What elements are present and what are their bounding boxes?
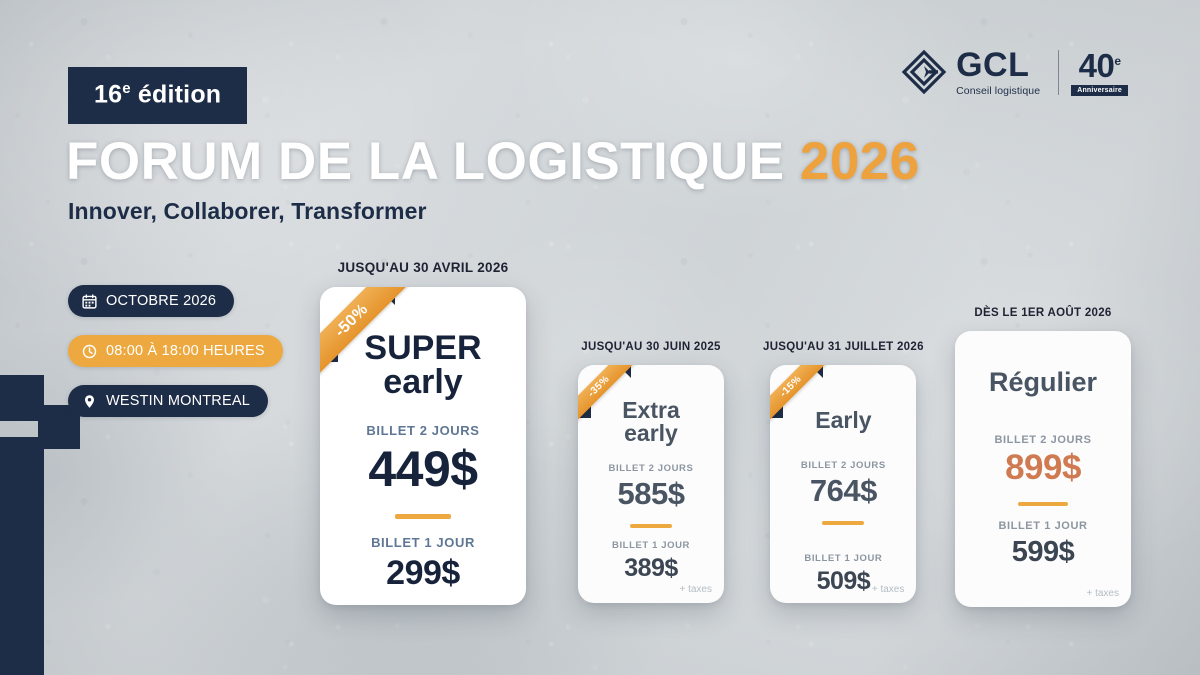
pricing-card-title-super-early: SUPER early	[364, 331, 481, 399]
logo-divider	[1058, 50, 1059, 95]
pricing-title-line1: SUPER	[364, 331, 481, 365]
price-divider	[630, 524, 672, 528]
pricing-column-early: JUSQU'AU 31 JUILLET 2026 -15% Early BILL…	[763, 341, 924, 603]
pricing-column-super-early: JUSQU'AU 30 AVRIL 2026 -50% SUPER early …	[320, 260, 526, 605]
ribbon-tip-left	[770, 405, 783, 418]
info-pill-venue-label: WESTIN MONTREAL	[106, 393, 250, 409]
ribbon-tip-left	[578, 405, 591, 418]
info-pill-venue: WESTIN MONTREAL	[68, 385, 268, 417]
decor-block-bottom	[0, 437, 44, 675]
pricing-title-line2: early	[364, 365, 481, 399]
pricing-title-line1: Early	[815, 409, 871, 432]
info-pill-hours: 08:00 À 18:00 HEURES	[68, 335, 283, 367]
pricing-card-early[interactable]: -15% Early BILLET 2 JOURS 764$ BILLET 1 …	[770, 365, 916, 603]
title-main-text: FORUM DE LA LOGISTIQUE	[66, 132, 800, 191]
ribbon-tip-left	[320, 344, 338, 362]
calendar-icon	[82, 294, 97, 309]
ticket-label-two-days: BILLET 2 JOURS	[609, 463, 694, 474]
info-pill-date-label: OCTOBRE 2026	[106, 293, 216, 309]
edition-ordinal-suffix: e	[122, 80, 131, 97]
price-two-days-super-early: 449$	[368, 440, 477, 498]
ribbon-tip-top	[618, 365, 631, 378]
anniversary-number-value: 40	[1079, 47, 1115, 84]
title-year: 2026	[800, 132, 920, 191]
gcl-logo-mark-icon	[901, 49, 947, 95]
price-two-days-extra-early: 585$	[618, 476, 685, 512]
pricing-card-title-extra-early: Extra early	[622, 399, 680, 445]
event-info-pills: OCTOBRE 2026 08:00 À 18:00 HEURES WESTIN…	[68, 285, 283, 417]
pricing-card-super-early[interactable]: -50% SUPER early BILLET 2 JOURS 449$ BIL…	[320, 287, 526, 605]
pricing-title-line1: Extra	[622, 399, 680, 422]
edition-badge: 16e édition	[68, 67, 247, 124]
pricing-title-line1: Régulier	[989, 369, 1097, 396]
taxes-note: + taxes	[679, 584, 712, 595]
pricing-card-title-early: Early	[815, 409, 871, 432]
pricing-deadline-super-early: JUSQU'AU 30 AVRIL 2026	[338, 260, 509, 275]
anniversary-label: Anniversaire	[1071, 85, 1128, 96]
price-divider	[395, 514, 451, 519]
anniversary-number: 40e	[1079, 49, 1121, 82]
ribbon-tip-top	[377, 287, 395, 305]
price-one-day-extra-early: 389$	[624, 554, 678, 583]
gcl-logo-text: GCL Conseil logistique	[956, 48, 1040, 97]
ticket-label-two-days: BILLET 2 JOURS	[801, 460, 886, 471]
price-divider	[1018, 502, 1068, 506]
price-one-day-early: 509$	[817, 567, 871, 596]
info-pill-hours-label: 08:00 À 18:00 HEURES	[106, 343, 265, 359]
gcl-logo-tagline: Conseil logistique	[956, 86, 1040, 97]
ticket-label-two-days: BILLET 2 JOURS	[366, 423, 479, 438]
ticket-label-one-day: BILLET 1 JOUR	[371, 535, 475, 550]
taxes-note: + taxes	[1086, 588, 1119, 599]
gcl-logo: GCL Conseil logistique 40e Anniversaire	[901, 48, 1128, 97]
pricing-deadline-early: JUSQU'AU 31 JUILLET 2026	[763, 341, 924, 353]
price-two-days-regulier: 899$	[1005, 448, 1081, 488]
pricing-title-line2: early	[622, 422, 680, 445]
edition-number: 16	[94, 80, 122, 108]
pricing-card-title-regulier: Régulier	[989, 369, 1097, 396]
pricing-deadline-extra-early: JUSQU'AU 30 JUIN 2025	[581, 341, 720, 353]
ribbon-tip-top	[810, 365, 823, 378]
page-subtitle: Innover, Collaborer, Transformer	[68, 198, 427, 225]
ticket-label-one-day: BILLET 1 JOUR	[612, 540, 690, 551]
price-one-day-regulier: 599$	[1012, 536, 1075, 569]
ticket-label-one-day: BILLET 1 JOUR	[998, 520, 1087, 532]
clock-icon	[82, 344, 97, 359]
price-one-day-super-early: 299$	[386, 554, 460, 593]
info-pill-date: OCTOBRE 2026	[68, 285, 234, 317]
page-title: FORUM DE LA LOGISTIQUE 2026	[66, 131, 920, 192]
pricing-card-extra-early[interactable]: -35% Extra early BILLET 2 JOURS 585$ BIL…	[578, 365, 724, 603]
taxes-note: + taxes	[872, 584, 905, 595]
price-two-days-early: 764$	[810, 473, 877, 509]
pricing-card-regulier[interactable]: Régulier BILLET 2 JOURS 899$ BILLET 1 JO…	[955, 331, 1131, 607]
ticket-label-one-day: BILLET 1 JOUR	[804, 553, 882, 564]
price-divider	[822, 521, 864, 525]
edition-word: édition	[138, 80, 221, 108]
anniversary-number-sup: e	[1114, 54, 1120, 68]
pricing-column-extra-early: JUSQU'AU 30 JUIN 2025 -35% Extra early B…	[578, 341, 724, 603]
gcl-logo-word: GCL	[956, 48, 1040, 82]
pricing-column-regulier: DÈS LE 1ER AOÛT 2026 Régulier BILLET 2 J…	[955, 307, 1131, 607]
anniversary-badge: 40e Anniversaire	[1071, 49, 1128, 96]
location-pin-icon	[82, 394, 97, 409]
ticket-label-two-days: BILLET 2 JOURS	[994, 434, 1091, 446]
pricing-deadline-regulier: DÈS LE 1ER AOÛT 2026	[974, 307, 1111, 319]
